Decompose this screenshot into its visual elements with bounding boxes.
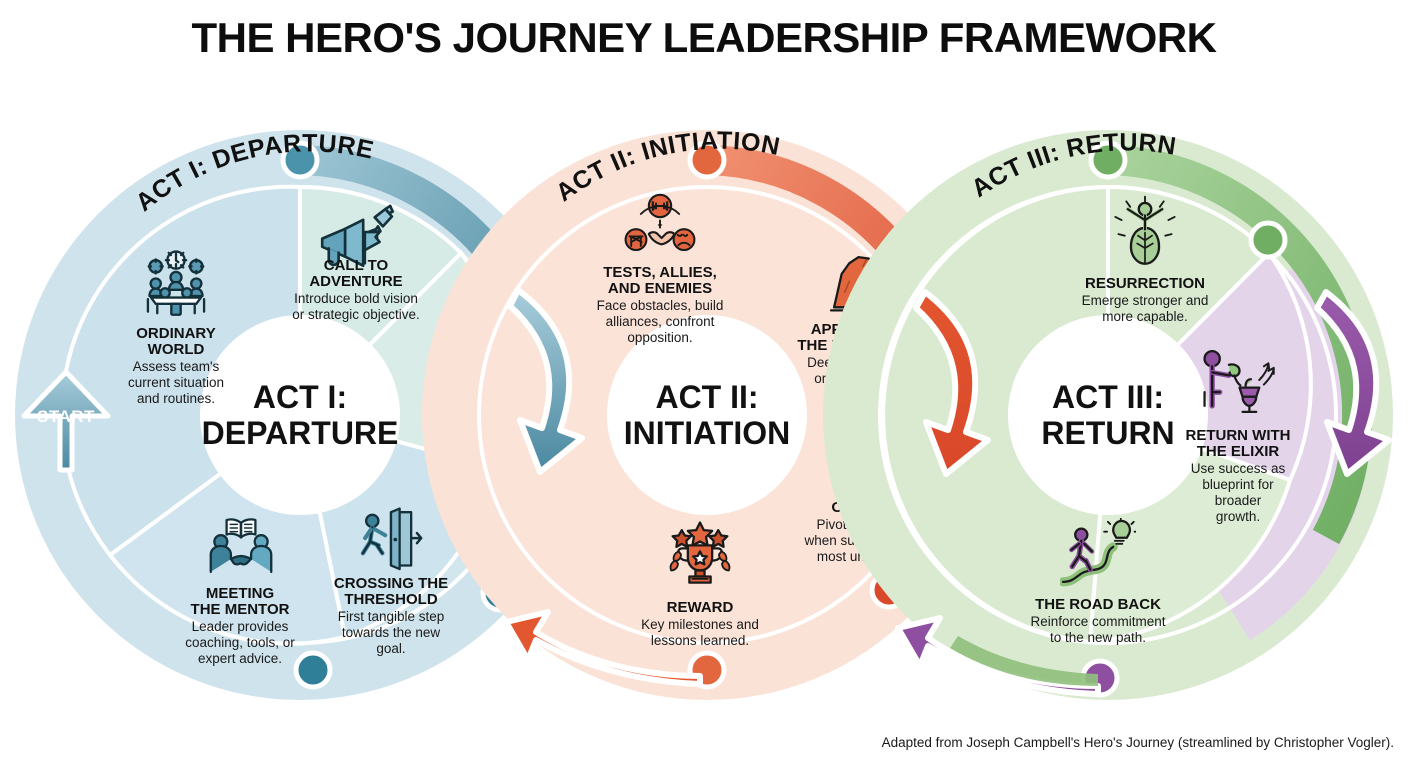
stage-title-line: RETURN WITH — [1186, 427, 1291, 444]
act3-hub-line1: ACT III: — [1052, 379, 1164, 415]
act-3-wheel: ACT III: RETURN ACT III: RETURN RESURREC… — [823, 128, 1393, 700]
infographic-canvas: THE HERO'S JOURNEY LEADERSHIP FRAMEWORK — [0, 0, 1408, 768]
stage-title-line: REWARD — [667, 599, 734, 616]
stage-desc-line: broader — [1215, 493, 1262, 508]
stage-desc-line: First tangible step — [338, 609, 445, 624]
stage-desc-line: or strategic objective. — [292, 307, 420, 322]
stage-desc-line: growth. — [1216, 509, 1260, 524]
stage-desc-line: goal. — [376, 641, 405, 656]
stage-title-line: CALL TO — [324, 257, 389, 274]
stage-title-line: THE MENTOR — [191, 601, 290, 618]
source-note: Adapted from Joseph Campbell's Hero's Jo… — [882, 735, 1394, 750]
act1-hub-line2: DEPARTURE — [202, 415, 399, 451]
stage-desc-line: Assess team's — [133, 359, 220, 374]
stage-title-line: WORLD — [148, 341, 205, 358]
act2-hub-line1: ACT II: — [655, 379, 758, 415]
act1-node-bottom — [296, 653, 330, 687]
stage-desc-line: to the new path. — [1050, 630, 1146, 645]
stage-desc-line: expert advice. — [198, 651, 282, 666]
stage-desc-line: coaching, tools, or — [185, 635, 295, 650]
act3-hub: ACT III: RETURN — [1041, 379, 1174, 451]
stage-title-line: AND ENEMIES — [608, 280, 712, 297]
page-title: THE HERO'S JOURNEY LEADERSHIP FRAMEWORK — [0, 14, 1408, 62]
stage-title-line: RESURRECTION — [1085, 275, 1205, 292]
stage-desc-line: more capable. — [1102, 309, 1188, 324]
stage-title-line: ORDINARY — [136, 325, 215, 342]
stage-desc-line: current situation — [128, 375, 224, 390]
act3-hub-line2: RETURN — [1041, 415, 1174, 451]
stage-desc-line: lessons learned. — [651, 633, 749, 648]
stage-title-line: TESTS, ALLIES, — [603, 264, 717, 281]
stage-desc-line: towards the new — [342, 625, 441, 640]
act1-hub-line1: ACT I: — [253, 379, 347, 415]
stage-title-line: ADVENTURE — [309, 273, 402, 290]
stage-desc-line: Use success as — [1191, 461, 1286, 476]
stage-desc-line: Emerge stronger and — [1082, 293, 1209, 308]
meeting-table-icon — [148, 252, 204, 315]
stage-desc-line: Introduce bold vision — [294, 291, 418, 306]
stage-desc-line: Reinforce commitment — [1030, 614, 1165, 629]
stage-title-line: THE ROAD BACK — [1035, 596, 1161, 613]
stage-desc-line: opposition. — [627, 330, 692, 345]
hero-journey-diagram: ACT I: DEPARTURE START ACT I: DEPARTURE … — [0, 0, 1408, 768]
stage-title-line: CROSSING THE — [334, 575, 448, 592]
stage-desc-line: Face obstacles, build — [597, 298, 724, 313]
stage-desc-line: and routines. — [137, 391, 215, 406]
act2-hub-line2: INITIATION — [624, 415, 791, 451]
stage-title-line: THE ELIXIR — [1197, 443, 1280, 460]
act3-node-upper-right — [1251, 223, 1285, 257]
stage-desc-line: Key milestones and — [641, 617, 759, 632]
stage-title-line: MEETING — [206, 585, 274, 602]
stage-title-line: THRESHOLD — [344, 591, 438, 608]
stage-desc-line: blueprint for — [1202, 477, 1274, 492]
start-label: START — [37, 407, 95, 426]
stage-desc-line: alliances, confront — [606, 314, 715, 329]
stage-desc-line: Leader provides — [192, 619, 289, 634]
